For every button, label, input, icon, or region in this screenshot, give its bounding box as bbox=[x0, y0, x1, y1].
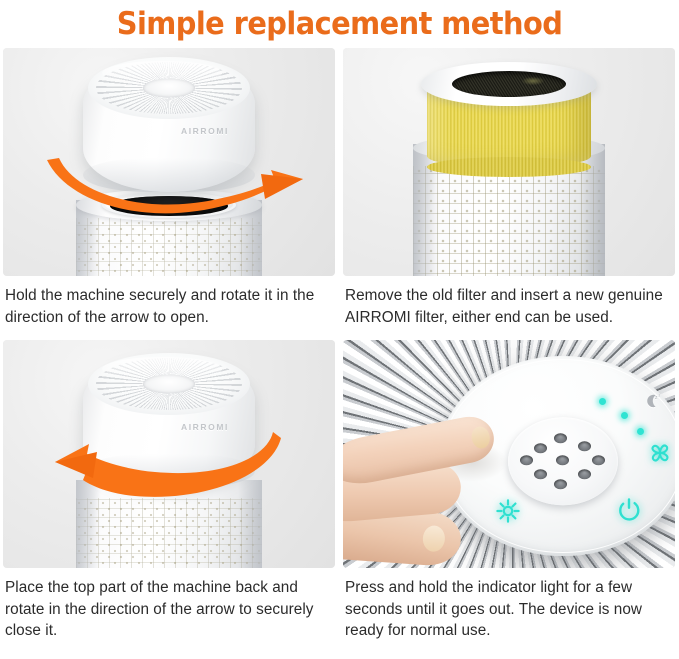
fingernail-index bbox=[470, 425, 492, 450]
page-title: Simple replacement method bbox=[117, 6, 563, 42]
step-2-caption: Remove the old filter and insert a new g… bbox=[343, 276, 675, 340]
step-2-image bbox=[343, 48, 675, 276]
mesh-highlight bbox=[522, 77, 544, 85]
step-1-caption: Hold the machine securely and rotate it … bbox=[3, 276, 335, 340]
speed-dot-1 bbox=[599, 398, 606, 405]
hand-pressing bbox=[343, 422, 507, 568]
speed-dot-3 bbox=[637, 428, 644, 435]
body-perforation-pattern bbox=[413, 166, 605, 276]
fingernail-lower bbox=[422, 525, 446, 552]
step-3-image: AIRROMI bbox=[3, 340, 335, 568]
carbon-mesh bbox=[452, 71, 566, 97]
step-4-caption: Press and hold the indicator light for a… bbox=[343, 568, 675, 654]
control-hub[interactable] bbox=[508, 417, 618, 505]
filter-top-rim bbox=[421, 62, 597, 106]
step-1: AIRROMI Hold the machine securely and ro… bbox=[3, 48, 335, 340]
power-icon[interactable] bbox=[615, 496, 643, 529]
rotation-arrow-right-icon bbox=[3, 48, 335, 276]
rotation-arrow-left-icon bbox=[3, 340, 335, 568]
step-4: z z bbox=[343, 340, 675, 654]
page-header: Simple replacement method bbox=[0, 0, 679, 48]
scene-background: z z bbox=[343, 340, 675, 568]
step-3-caption: Place the top part of the machine back a… bbox=[3, 568, 335, 654]
step-4-image: z z bbox=[343, 340, 675, 568]
step-2: Remove the old filter and insert a new g… bbox=[343, 48, 675, 340]
hub-vent-holes bbox=[508, 417, 618, 505]
svg-text:z: z bbox=[659, 394, 661, 398]
sleep-mode-icon[interactable]: z z bbox=[643, 393, 663, 416]
step-3: AIRROMI Place the top part of the machin… bbox=[3, 340, 335, 654]
step-1-image: AIRROMI bbox=[3, 48, 335, 276]
filter-lower-edge bbox=[427, 157, 591, 177]
steps-grid: AIRROMI Hold the machine securely and ro… bbox=[0, 48, 679, 654]
fan-speed-icon[interactable] bbox=[647, 440, 673, 471]
speed-dot-2 bbox=[621, 412, 628, 419]
